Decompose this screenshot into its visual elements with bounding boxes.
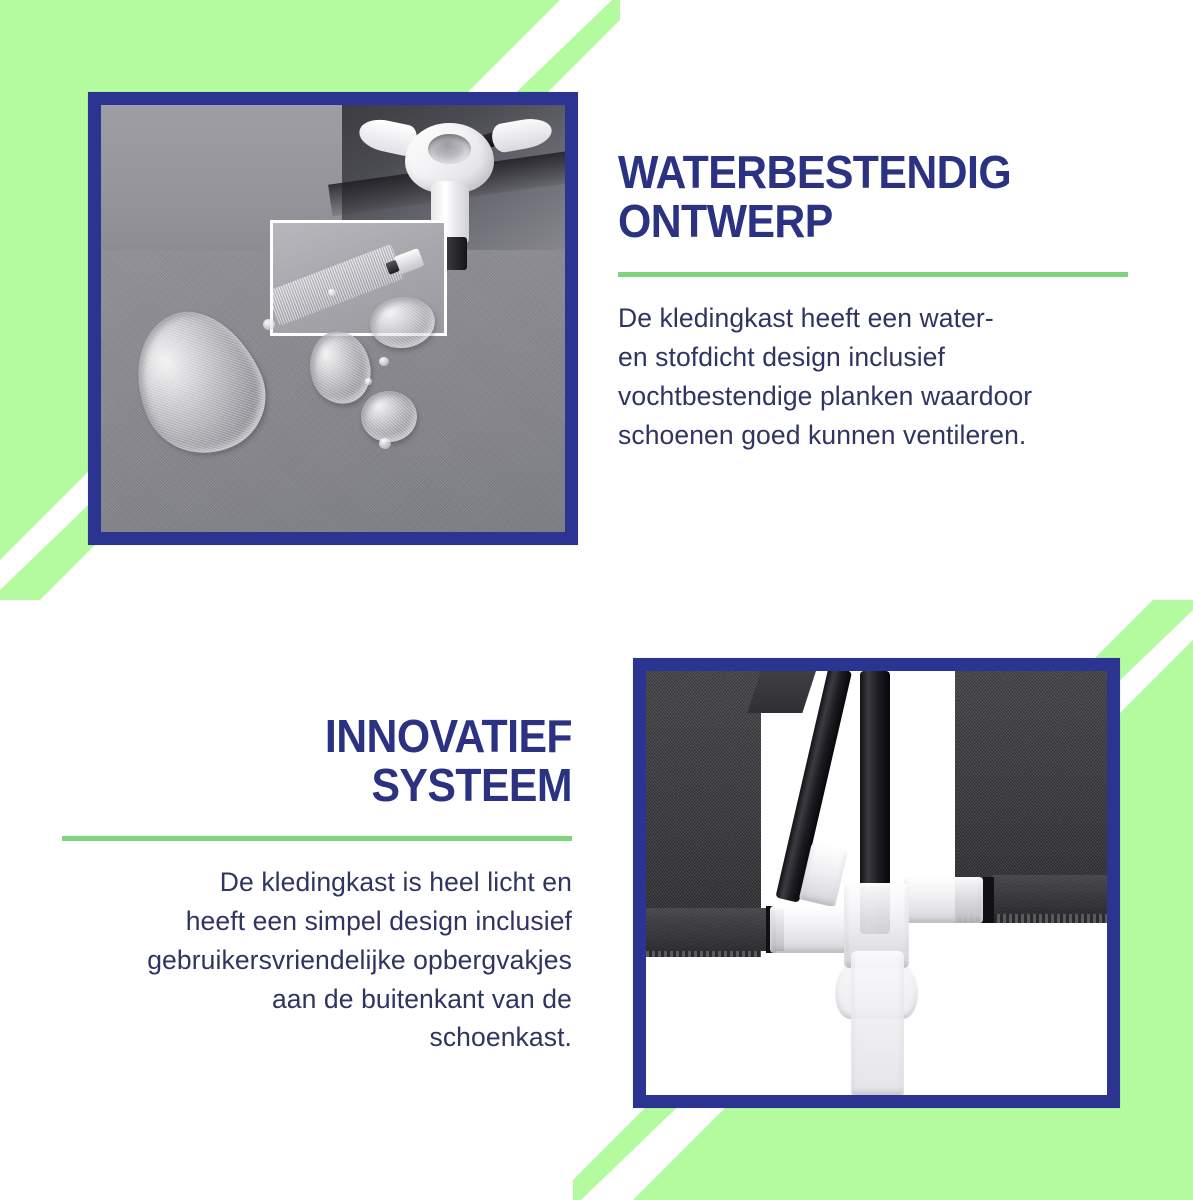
connector-downward-stem [851,951,904,1095]
fabric-rail-left [646,908,784,950]
pole-black-band-right [983,877,994,924]
water-speck [365,378,371,384]
water-droplet [361,391,417,442]
waterbestendig-heading: WATERBESTENDIG ONTWERP [618,148,1092,246]
water-speck [379,357,388,366]
water-speck [328,289,335,297]
innovatief-heading: INNOVATIEF SYSTEEM [98,712,572,810]
innovatief-body-text: De kledingkast is heel licht en heeft ee… [62,863,572,1056]
innovatief-text-block: INNOVATIEF SYSTEEM De kledingkast is hee… [62,712,572,1057]
waterbestendig-text-block: WATERBESTENDIG ONTWERP De kledingkast he… [618,148,1128,454]
green-divider-line [62,836,572,841]
connector-sleeve-left [770,906,848,953]
waterproof-design-photo [101,105,565,532]
water-speck [263,319,274,330]
fabric-rail-right [992,875,1107,913]
green-divider-line [618,272,1128,277]
inset-metal-ferrule [394,248,425,274]
waterproof-design-photo-frame [88,92,578,545]
innovative-system-photo [646,671,1107,1095]
waterbestendig-body-text: De kledingkast heeft een water- en stofd… [618,299,1128,454]
connector-sleeve-right [904,877,982,924]
innovative-system-photo-frame [633,658,1120,1108]
